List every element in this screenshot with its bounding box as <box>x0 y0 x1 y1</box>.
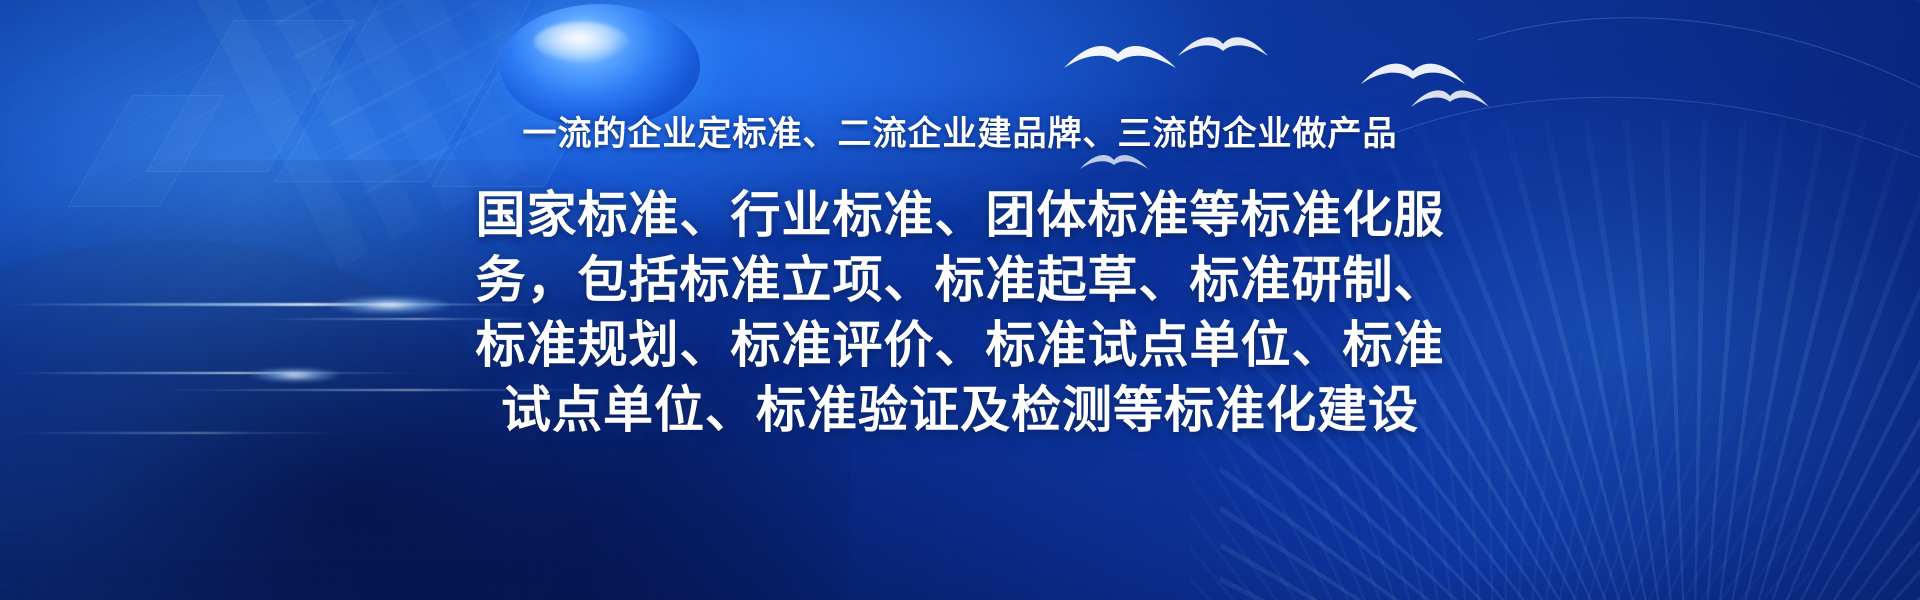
banner-body-line-2: 务，包括标准立项、标准起草、标准研制、 <box>440 248 1480 313</box>
banner-body-line-3: 标准规划、标准评价、标准试点单位、标准 <box>440 313 1480 378</box>
banner-text-layer: 一流的企业定标准、二流企业建品牌、三流的企业做产品 国家标准、行业标准、团体标准… <box>0 0 1920 600</box>
banner-stage: 一流的企业定标准、二流企业建品牌、三流的企业做产品 国家标准、行业标准、团体标准… <box>0 0 1920 600</box>
banner-body: 国家标准、行业标准、团体标准等标准化服 务，包括标准立项、标准起草、标准研制、 … <box>440 183 1480 443</box>
banner-body-line-1: 国家标准、行业标准、团体标准等标准化服 <box>440 183 1480 248</box>
banner-headline: 一流的企业定标准、二流企业建品牌、三流的企业做产品 <box>523 114 1398 155</box>
banner-body-line-4: 试点单位、标准验证及检测等标准化建设 <box>440 378 1480 443</box>
